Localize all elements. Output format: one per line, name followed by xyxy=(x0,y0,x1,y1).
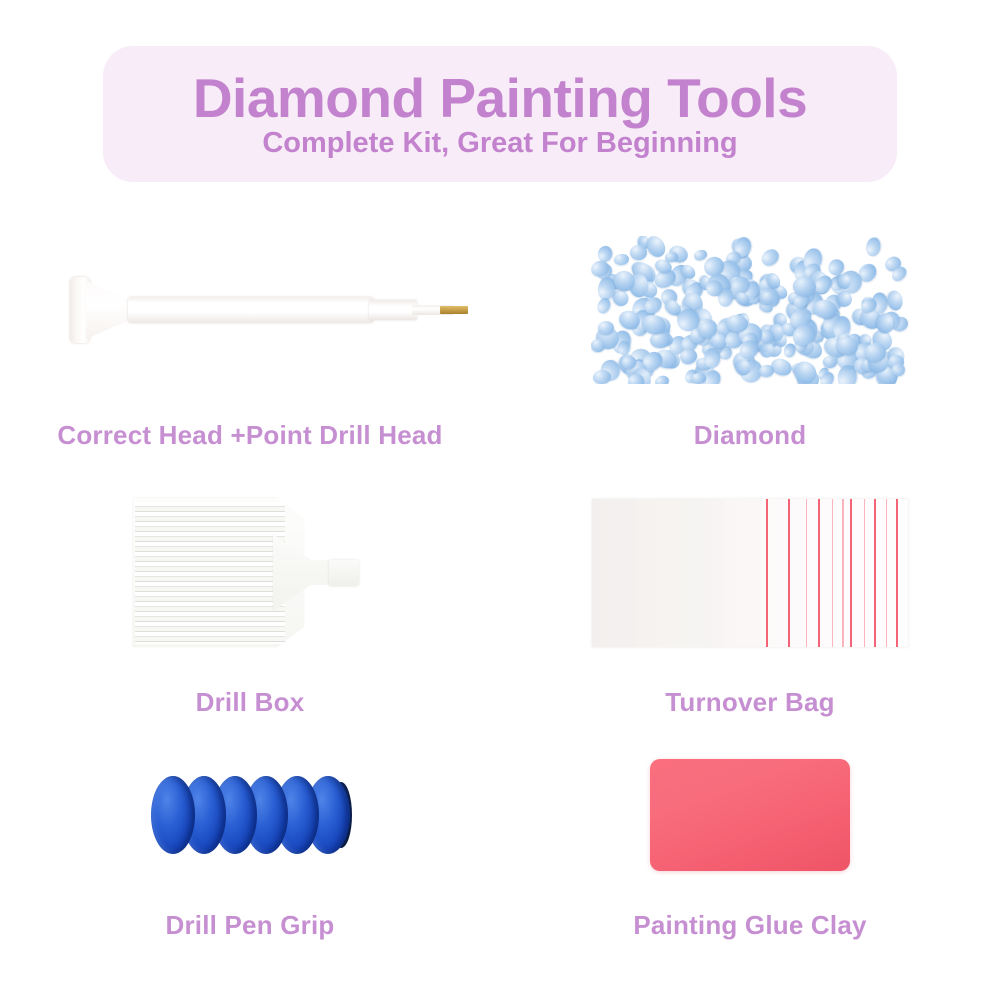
header-banner: Diamond Painting Tools Complete Kit, Gre… xyxy=(103,46,897,182)
bag-zip-stripe xyxy=(864,499,865,647)
page-title: Diamond Painting Tools xyxy=(193,70,807,126)
product-image-painting-glue-clay xyxy=(510,750,990,880)
product-label-painting-glue-clay: Painting Glue Clay xyxy=(633,910,866,941)
product-cell-drill-box: Drill Box xyxy=(10,480,490,718)
tray-spout xyxy=(329,560,359,586)
bag-zip-stripe xyxy=(766,499,768,647)
bag-zip-stripe xyxy=(850,499,852,647)
bag-shade-panel xyxy=(592,499,638,647)
product-cell-drill-pen-grip: Drill Pen Grip xyxy=(10,750,490,941)
bag-zip-stripe xyxy=(896,499,898,647)
diamond-painting-pen-icon xyxy=(64,255,484,365)
diamond-beads-pile-icon xyxy=(591,236,909,384)
product-label-drill-box: Drill Box xyxy=(196,687,305,718)
product-label-drill-pen-grip: Drill Pen Grip xyxy=(166,910,335,941)
bag-zip-stripe xyxy=(842,499,844,647)
grip-segment xyxy=(151,776,195,854)
diamond-bead xyxy=(864,342,886,363)
drill-tray-icon xyxy=(133,498,368,648)
product-cell-painting-glue-clay: Painting Glue Clay xyxy=(510,750,990,941)
bag-shade-panel xyxy=(638,499,682,647)
diamond-bead xyxy=(654,374,670,384)
diamond-bead xyxy=(595,297,612,316)
product-label-turnover-bag: Turnover Bag xyxy=(665,687,835,718)
pen-gold-point-drill-tip xyxy=(440,306,468,314)
product-label-correct-head-point-drill-head: Correct Head +Point Drill Head xyxy=(57,420,442,451)
bag-shade-panel xyxy=(724,499,762,647)
bag-zip-stripe xyxy=(886,499,887,647)
diamond-bead xyxy=(823,356,838,368)
product-image-diamond-beads xyxy=(510,230,990,390)
product-image-drill-pen-grip xyxy=(10,750,490,880)
diamond-bead xyxy=(630,245,647,260)
product-cell-correct-head-point-drill-head: Correct Head +Point Drill Head xyxy=(10,230,490,451)
diamond-bead xyxy=(592,369,612,384)
product-image-drill-box xyxy=(10,480,490,665)
glue-clay-block-icon xyxy=(650,759,850,871)
diamond-bead xyxy=(650,332,670,348)
diamond-bead xyxy=(613,253,629,266)
diamond-bead xyxy=(758,364,774,378)
bag-shade-panel xyxy=(682,499,724,647)
product-image-turnover-bag xyxy=(510,480,990,665)
diamond-bead xyxy=(618,341,631,355)
bag-zip-stripe xyxy=(874,499,876,647)
page-subtitle: Complete Kit, Great For Beginning xyxy=(262,128,737,158)
bag-zip-stripe xyxy=(788,499,790,647)
pen-barrel xyxy=(128,297,373,323)
bag-zip-stripe xyxy=(818,499,820,647)
diamond-bead xyxy=(877,313,894,333)
diamond-bead xyxy=(886,289,905,312)
tray-grooves xyxy=(135,502,285,644)
product-cell-turnover-bag: Turnover Bag xyxy=(510,480,990,718)
product-image-diamond-painting-pen xyxy=(10,230,490,390)
diamond-bead xyxy=(864,236,881,257)
pen-flare-neck xyxy=(86,281,134,339)
diamond-bead xyxy=(690,372,705,384)
bag-zip-stripe xyxy=(832,499,833,647)
turnover-bag-icon xyxy=(592,499,908,647)
product-cell-diamond: Diamond xyxy=(510,230,990,451)
diamond-bead xyxy=(758,246,781,269)
foam-pen-grip-icon xyxy=(145,772,355,858)
product-label-diamond: Diamond xyxy=(694,420,807,451)
bag-zip-stripe xyxy=(806,499,807,647)
pen-collar xyxy=(369,300,417,320)
